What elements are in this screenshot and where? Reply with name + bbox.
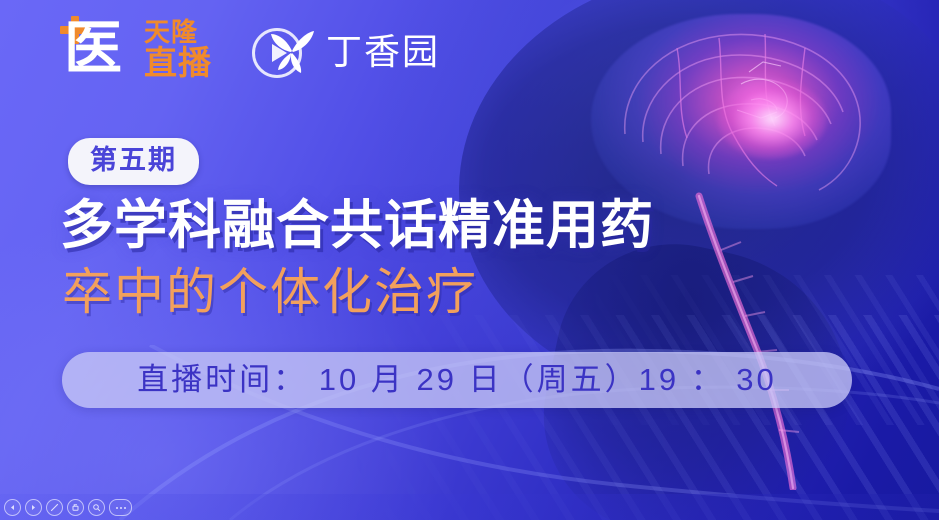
tianlong-live-logo: 医 天隆 直播 (56, 14, 212, 86)
yi-character: 医 (64, 20, 122, 78)
tianlong-logo-line1: 天隆 (144, 18, 212, 46)
ellipsis-icon[interactable] (109, 499, 132, 516)
episode-badge: 第五期 (68, 138, 199, 185)
play-button-icon (252, 28, 302, 78)
yi-logo-mark: 医 (56, 14, 148, 82)
media-toolbar[interactable] (4, 499, 132, 516)
caret-left-icon[interactable] (4, 499, 21, 516)
caret-right-icon[interactable] (25, 499, 42, 516)
ellipsis-dot (120, 507, 122, 509)
ellipsis-dot (124, 507, 126, 509)
magnifier-icon[interactable] (88, 499, 105, 516)
stamp-icon[interactable] (67, 499, 84, 516)
tianlong-logo-text: 天隆 直播 (144, 14, 212, 80)
poster-subtitle: 卒中的个体化治疗 (62, 263, 478, 321)
broadcast-time-text: 直播时间： 10 月 29 日（周五）19 ： 30 (137, 363, 777, 397)
tianlong-logo-line2: 直播 (144, 46, 212, 80)
broadcast-time-banner: 直播时间： 10 月 29 日（周五）19 ： 30 (62, 352, 852, 408)
poster-content: 医 天隆 直播 (0, 0, 939, 520)
live-stream-poster: 医 天隆 直播 (0, 0, 939, 520)
poster-title: 多学科融合共话精准用药 (60, 196, 654, 256)
play-triangle (272, 44, 287, 62)
dingxiangyuan-logo-text: 丁香园 (326, 32, 440, 72)
pen-icon[interactable] (46, 499, 63, 516)
header-logos: 医 天隆 直播 (56, 14, 440, 86)
ellipsis-dot (116, 507, 118, 509)
